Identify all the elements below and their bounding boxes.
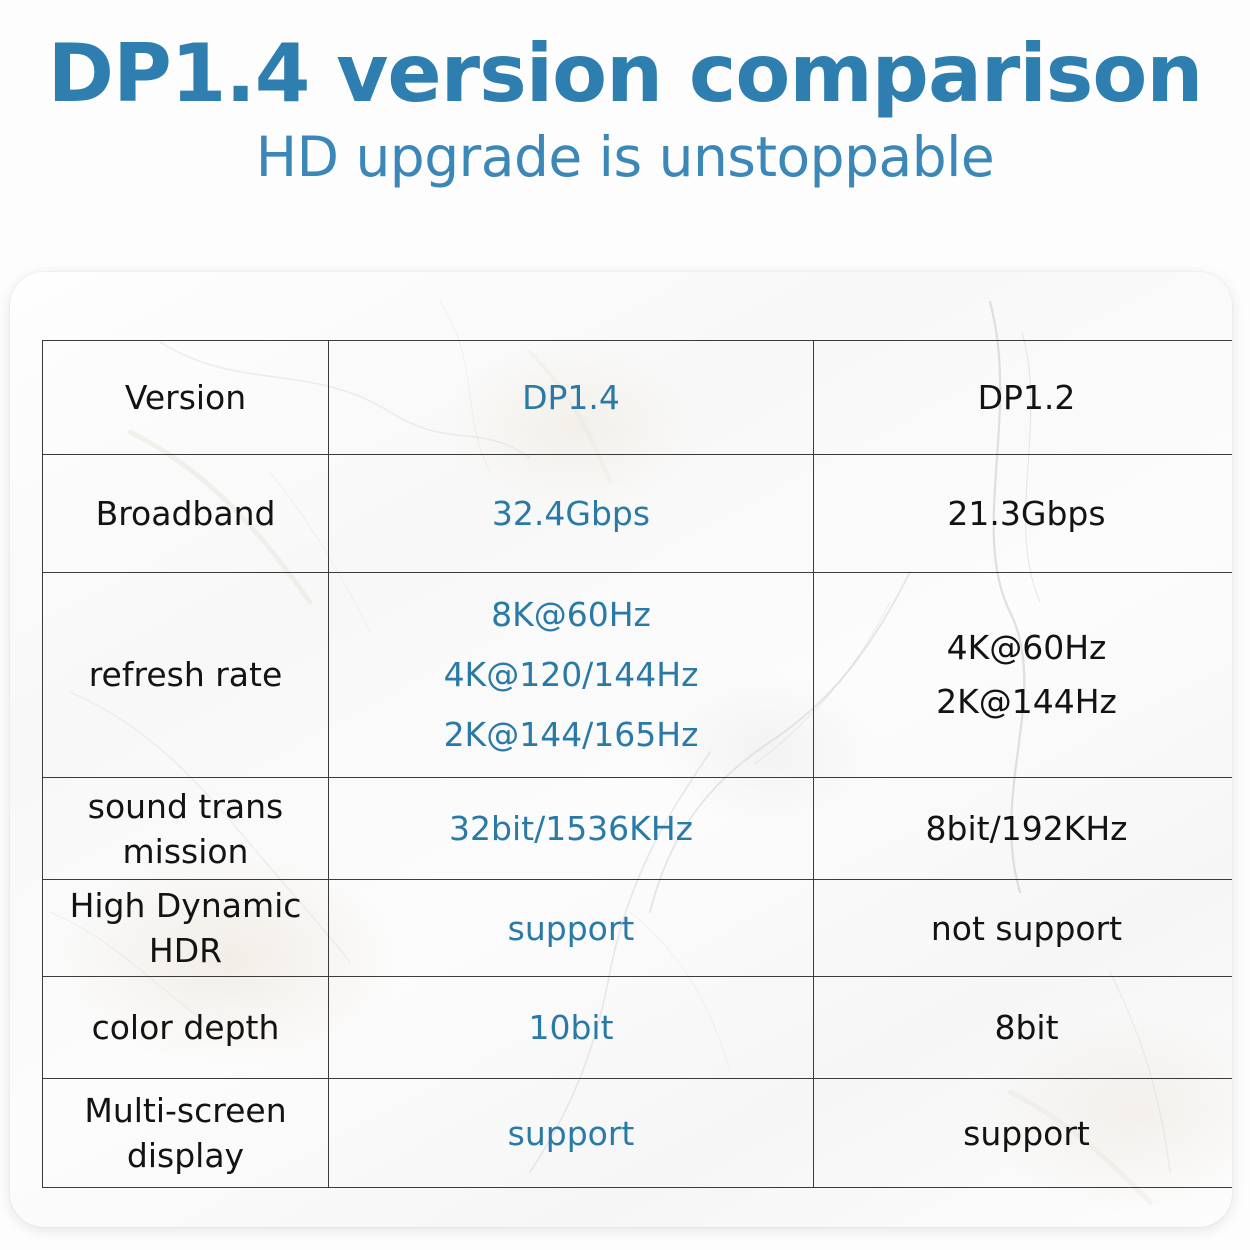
row-label-sound-transmission: sound trans mission	[43, 778, 329, 880]
table-row: Multi-screen display support support	[43, 1079, 1233, 1188]
row-label-version: Version	[43, 341, 329, 455]
cell-text: support	[820, 1112, 1232, 1155]
cell-text: Broadband	[49, 492, 322, 535]
cell-dp14-high-dynamic-hdr: support	[329, 880, 814, 977]
table-row: refresh rate 8K@60Hz 4K@120/144Hz 2K@144…	[43, 573, 1233, 778]
cell-text: 32bit/1536KHz	[335, 807, 807, 850]
cell-text: 4K@120/144Hz	[335, 645, 807, 705]
cell-text: 32.4Gbps	[335, 492, 807, 535]
cell-text: mission	[49, 829, 322, 874]
cell-text: Multi-screen	[49, 1088, 322, 1133]
cell-text: 2K@144/165Hz	[335, 705, 807, 765]
table-row: color depth 10bit 8bit	[43, 977, 1233, 1079]
cell-text: 8bit/192KHz	[820, 807, 1232, 850]
row-label-multi-screen-display: Multi-screen display	[43, 1079, 329, 1188]
cell-text: DP1.4	[335, 376, 807, 419]
row-label-color-depth: color depth	[43, 977, 329, 1079]
cell-dp14-sound-transmission: 32bit/1536KHz	[329, 778, 814, 880]
cell-text: not support	[820, 907, 1232, 950]
page-title: DP1.4 version comparison	[0, 28, 1250, 120]
table-row: sound trans mission 32bit/1536KHz 8bit/1…	[43, 778, 1233, 880]
cell-text: sound trans	[49, 784, 322, 829]
cell-dp14-version: DP1.4	[329, 341, 814, 455]
cell-text: 10bit	[335, 1006, 807, 1049]
cell-text: 4K@60Hz	[820, 621, 1232, 675]
cell-text: support	[335, 1112, 807, 1155]
dp-comparison-table: Version DP1.4 DP1.2	[42, 340, 1232, 1188]
cell-text: Version	[49, 376, 322, 419]
row-label-high-dynamic-hdr: High Dynamic HDR	[43, 880, 329, 977]
row-label-refresh-rate: refresh rate	[43, 573, 329, 778]
cell-dp12-refresh-rate: 4K@60Hz 2K@144Hz	[814, 573, 1233, 778]
table-body: Version DP1.4 DP1.2	[43, 341, 1233, 1188]
cell-text: HDR	[49, 928, 322, 973]
table-row: High Dynamic HDR support not support	[43, 880, 1233, 977]
table-row: Version DP1.4 DP1.2	[43, 341, 1233, 455]
cell-text: DP1.2	[820, 376, 1232, 419]
cell-text: display	[49, 1133, 322, 1178]
cell-text: 8bit	[820, 1006, 1232, 1049]
header-block: DP1.4 version comparison HD upgrade is u…	[0, 28, 1250, 190]
page-subtitle: HD upgrade is unstoppable	[0, 124, 1250, 190]
comparison-card: Version DP1.4 DP1.2	[10, 272, 1232, 1227]
cell-dp14-multi-screen-display: support	[329, 1079, 814, 1188]
cell-text: High Dynamic	[49, 883, 322, 928]
cell-dp14-broadband: 32.4Gbps	[329, 455, 814, 573]
cell-text: 2K@144Hz	[820, 675, 1232, 729]
cell-dp12-version: DP1.2	[814, 341, 1233, 455]
cell-dp12-color-depth: 8bit	[814, 977, 1233, 1079]
cell-dp12-high-dynamic-hdr: not support	[814, 880, 1233, 977]
cell-text: support	[335, 907, 807, 950]
cell-dp12-sound-transmission: 8bit/192KHz	[814, 778, 1233, 880]
table-row: Broadband 32.4Gbps 21.3Gbps	[43, 455, 1233, 573]
cell-dp12-broadband: 21.3Gbps	[814, 455, 1233, 573]
page-root: DP1.4 version comparison HD upgrade is u…	[0, 0, 1250, 1250]
cell-text: 21.3Gbps	[820, 492, 1232, 535]
cell-dp14-color-depth: 10bit	[329, 977, 814, 1079]
cell-text: 8K@60Hz	[335, 585, 807, 645]
cell-text: color depth	[49, 1006, 322, 1049]
cell-dp12-multi-screen-display: support	[814, 1079, 1233, 1188]
row-label-broadband: Broadband	[43, 455, 329, 573]
cell-dp14-refresh-rate: 8K@60Hz 4K@120/144Hz 2K@144/165Hz	[329, 573, 814, 778]
cell-text: refresh rate	[49, 645, 322, 705]
